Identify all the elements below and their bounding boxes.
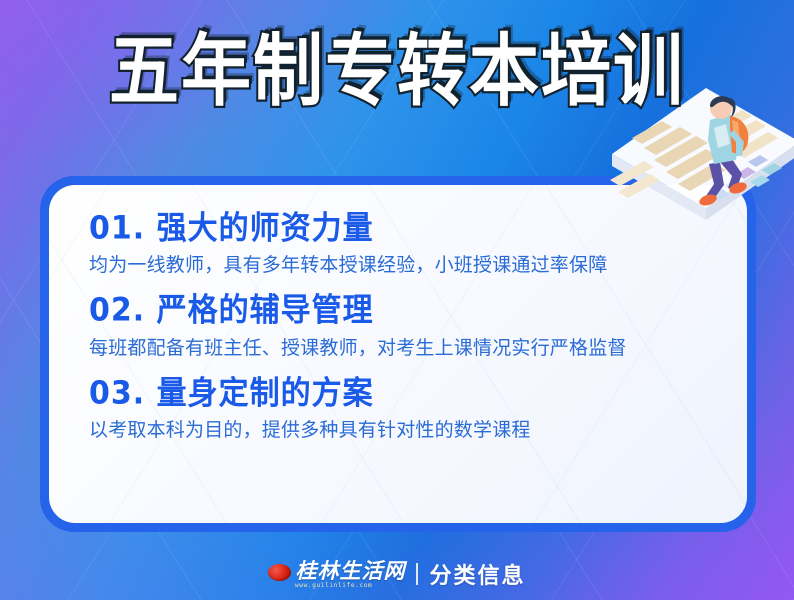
feature-desc-02: 每班都配备有班主任、授课教师，对考生上课情况实行严格监督 bbox=[89, 336, 649, 363]
feature-item-01: 01. 强大的师资力量 均为一线教师，具有多年转本授课经验，小班授课通过率保障 bbox=[89, 211, 713, 280]
brand-name: 桂林生活网 bbox=[295, 560, 405, 581]
brand-logo[interactable]: 桂林生活网 www.guilinlife.com bbox=[268, 560, 405, 589]
brand-url: www.guilinlife.com bbox=[295, 583, 407, 589]
red-sphere-icon bbox=[268, 564, 291, 581]
feature-desc-03: 以考取本科为目的，提供多种具有针对性的数学课程 bbox=[89, 418, 649, 445]
feature-item-02: 02. 严格的辅导管理 每班都配备有班主任、授课教师，对考生上课情况实行严格监督 bbox=[89, 293, 713, 362]
brand-wordmark: 桂林生活网 www.guilinlife.com bbox=[295, 560, 405, 589]
feature-desc-01: 均为一线教师，具有多年转本授课经验，小班授课通过率保障 bbox=[89, 253, 649, 280]
poster-headline: 五年制专转本培训 bbox=[0, 36, 794, 107]
feature-item-03: 03. 量身定制的方案 以考取本科为目的，提供多种具有针对性的数学课程 bbox=[89, 376, 713, 445]
features-card: 01. 强大的师资力量 均为一线教师，具有多年转本授课经验，小班授课通过率保障 … bbox=[40, 176, 756, 532]
feature-title-01: 01. 强大的师资力量 bbox=[89, 210, 713, 248]
headline-text: 五年制专转本培训 bbox=[109, 32, 685, 112]
footer-branding: 桂林生活网 www.guilinlife.com 分类信息 bbox=[0, 558, 794, 590]
footer-divider bbox=[416, 563, 418, 585]
feature-title-03: 03. 量身定制的方案 bbox=[89, 375, 713, 413]
feature-title-02: 02. 严格的辅导管理 bbox=[89, 292, 713, 330]
footer-tagline: 分类信息 bbox=[429, 558, 525, 590]
features-card-inner: 01. 强大的师资力量 均为一线教师，具有多年转本授课经验，小班授课通过率保障 … bbox=[49, 185, 747, 523]
poster-canvas: 五年制专转本培训 bbox=[0, 0, 794, 600]
